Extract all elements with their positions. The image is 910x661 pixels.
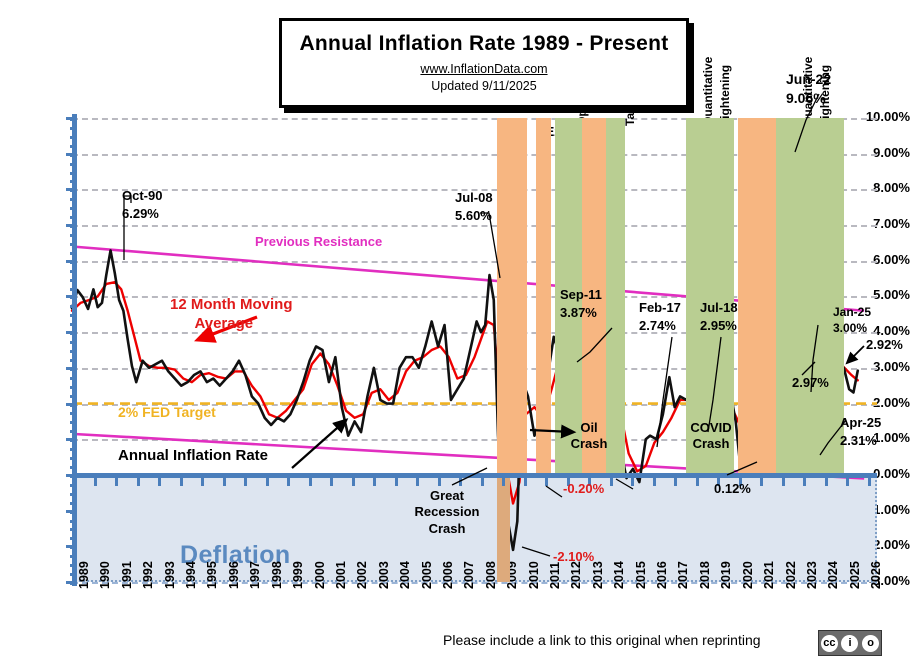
annotation-jul-18-label: Jul-18 [700, 300, 738, 316]
annotation-jun-22-label: Jun-22 [786, 71, 831, 89]
annotation-feb-17-value: 2.74% [639, 318, 676, 334]
label-previous-resistance: Previous Resistance [255, 234, 382, 250]
annotation-jun-22-value: 9.06% [786, 90, 826, 108]
legend-annual-inflation-rate: Annual Inflation Rate [118, 447, 268, 466]
annotation-oil-crash-label: Oil Crash [565, 420, 613, 453]
annotation-jul-08-value: 5.60% [455, 208, 492, 224]
chart-title-box: Annual Inflation Rate 1989 - Present www… [279, 18, 689, 108]
annotation-jul-08-label: Jul-08 [455, 190, 493, 206]
annotation-feb-17-label: Feb-17 [639, 300, 681, 316]
annotation-sep-11-label: Sep-11 [560, 287, 602, 303]
annotation-value-2-92: 2.92% [866, 337, 903, 353]
annotation-apr-25-label: Apr-25 [840, 415, 881, 431]
annotation-oct-90-label: Oct-90 [122, 188, 162, 204]
annotation-apr-25-value: 2.31% [840, 433, 877, 449]
annotation-jul-18-value: 2.95% [700, 318, 737, 334]
annotation-sep-11-value: 3.87% [560, 305, 597, 321]
page-title: Annual Inflation Rate 1989 - Present [282, 32, 686, 56]
source-url[interactable]: www.InflationData.com [282, 62, 686, 76]
annotation-oil-crash-value: -0.20% [563, 481, 604, 497]
annotation-covid-crash-label: COVID Crash [678, 420, 744, 453]
annotation-covid-crash-value: 0.12% [714, 481, 751, 497]
annotation-great-recession-label: Great Recession Crash [405, 488, 489, 537]
legend-12-month-moving-average: 12 Month Moving Average [170, 296, 293, 334]
annotation-great-recession-value: -2.10% [553, 549, 594, 565]
annotation-jan-25-value: 3.00% [833, 321, 867, 336]
annotation-value-2-97: 2.97% [792, 375, 829, 391]
annotation-jan-25-label: Jan-25 [833, 305, 871, 320]
label-fed-target: 2% FED Target [118, 404, 216, 422]
updated-date: Updated 9/11/2025 [282, 79, 686, 93]
annotation-oct-90-value: 6.29% [122, 206, 159, 222]
